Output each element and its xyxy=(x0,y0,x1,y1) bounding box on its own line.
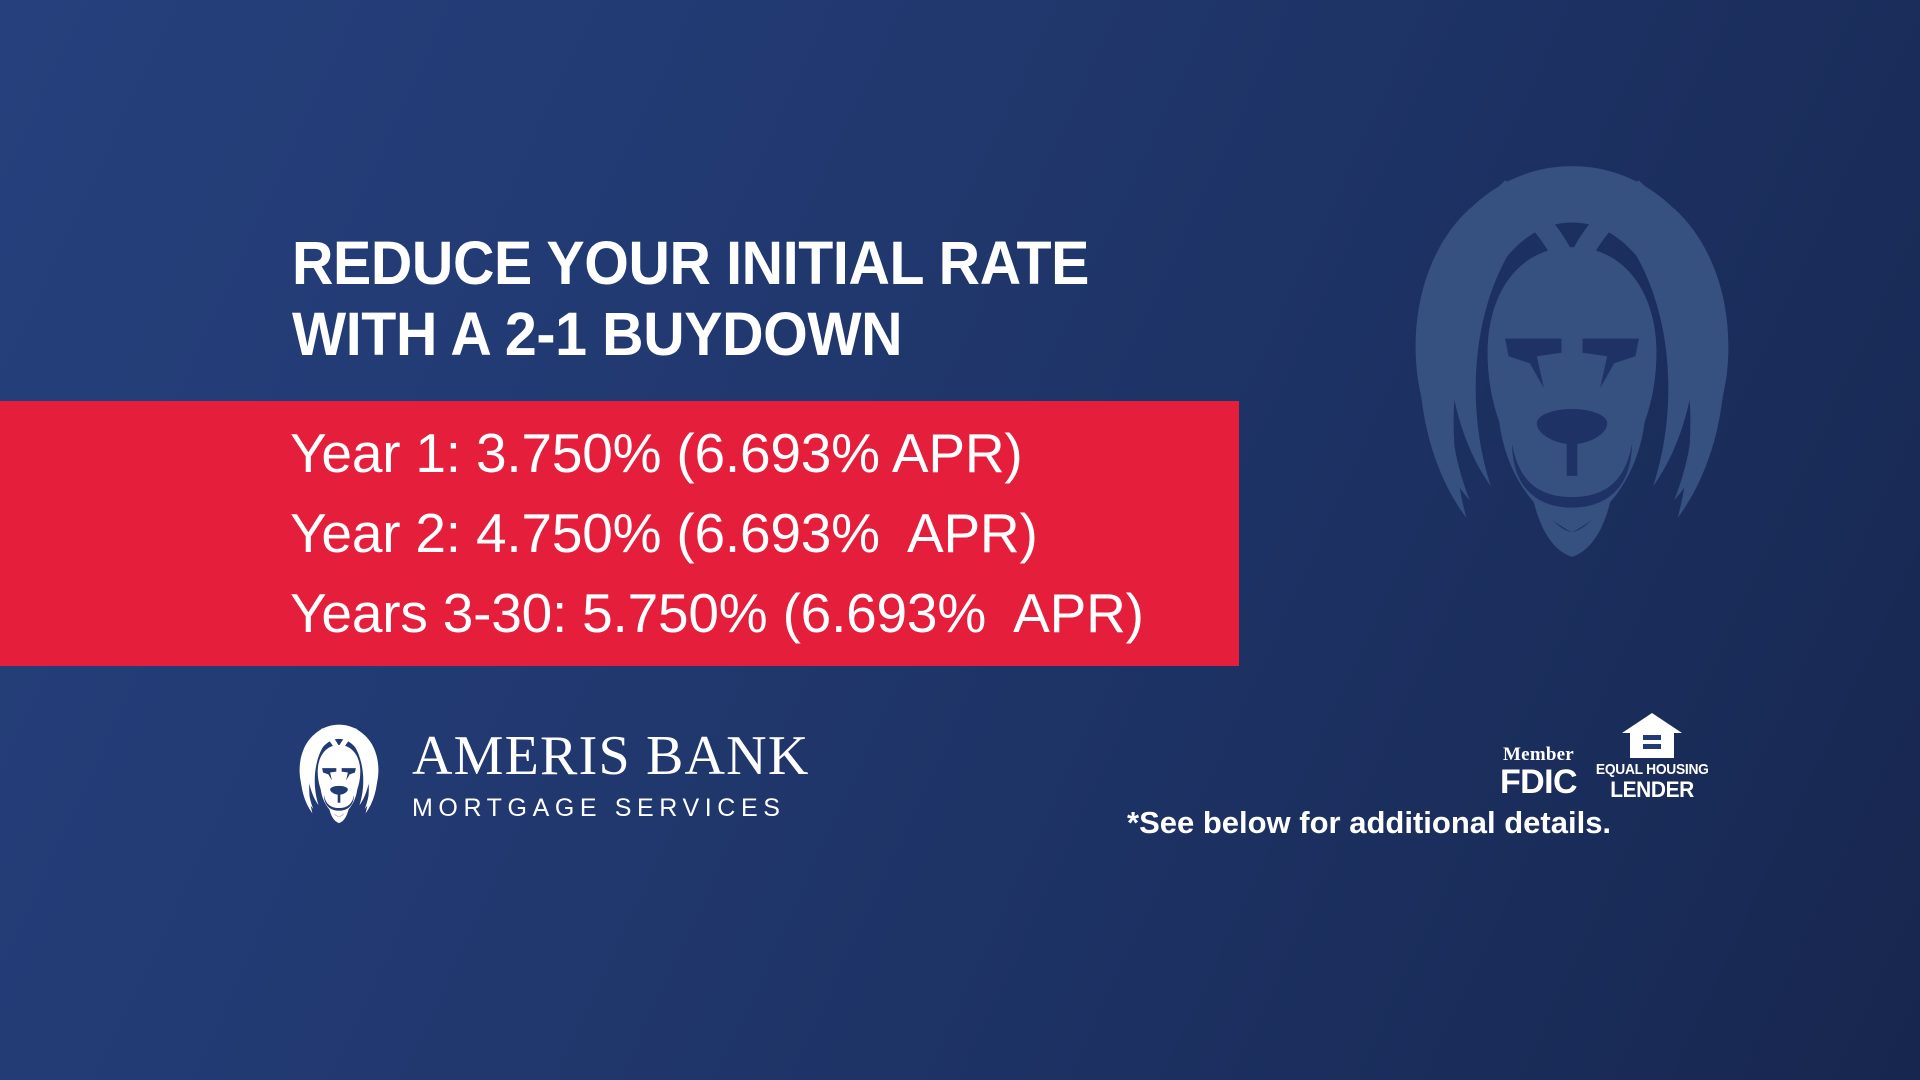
fdic-name-label: FDIC xyxy=(1500,765,1577,799)
fdic-member-label: Member xyxy=(1503,745,1574,765)
headline-line-1: REDUCE YOUR INITIAL RATE xyxy=(292,228,1232,299)
lion-head-icon xyxy=(1396,148,1748,568)
promo-graphic: REDUCE YOUR INITIAL RATE WITH A 2-1 BUYD… xyxy=(0,0,1920,1080)
compliance-marks: Member FDIC EQUAL HOUSING LENDER xyxy=(1500,712,1713,801)
logo-wordmark: AMERIS BANK MORTGAGE SERVICES xyxy=(412,724,809,823)
rate-line-year-1: Year 1: 3.750% (6.693% APR) xyxy=(290,413,1144,493)
page-title: REDUCE YOUR INITIAL RATE WITH A 2-1 BUYD… xyxy=(292,228,1292,370)
ameris-bank-logo: AMERIS BANK MORTGAGE SERVICES xyxy=(288,722,809,824)
rate-list: Year 1: 3.750% (6.693% APR) Year 2: 4.75… xyxy=(290,413,1144,653)
equal-housing-lender-logo: EQUAL HOUSING LENDER xyxy=(1591,712,1714,801)
brand-subtitle: MORTGAGE SERVICES xyxy=(412,793,809,823)
equal-housing-lender-house-icon xyxy=(1621,712,1683,760)
disclaimer-text: *See below for additional details. xyxy=(1127,804,1611,842)
lion-head-icon xyxy=(288,722,390,824)
rate-line-year-2: Year 2: 4.750% (6.693% APR) xyxy=(290,493,1144,573)
brand-name: AMERIS BANK xyxy=(412,728,809,784)
rate-band: Year 1: 3.750% (6.693% APR) Year 2: 4.75… xyxy=(0,401,1239,666)
headline-line-2: WITH A 2-1 BUYDOWN xyxy=(292,299,1232,370)
ehl-line-2: LENDER xyxy=(1610,778,1694,801)
rate-line-years-3-30: Years 3-30: 5.750% (6.693% APR) xyxy=(290,573,1144,653)
member-fdic-logo: Member FDIC xyxy=(1500,745,1577,801)
ehl-line-1: EQUAL HOUSING xyxy=(1596,762,1709,778)
